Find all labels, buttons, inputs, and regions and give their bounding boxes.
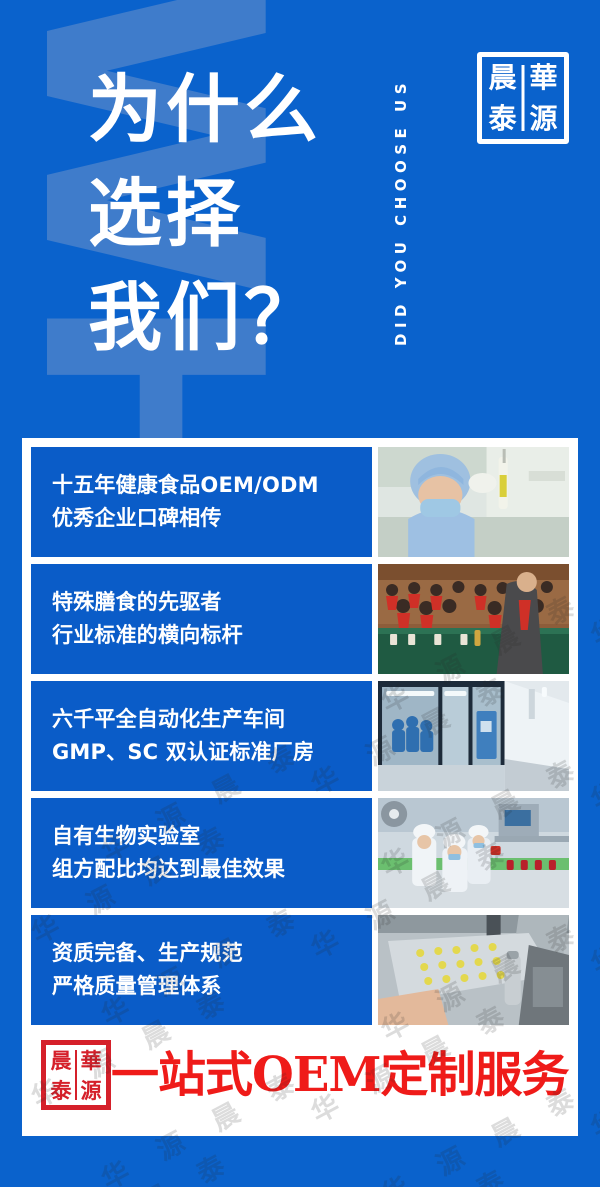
feature-card-text: 特殊膳食的先驱者 行业标准的横向标杆 <box>31 564 372 674</box>
feature-line-2: 组方配比均达到最佳效果 <box>52 853 372 886</box>
photo-art <box>378 798 569 908</box>
photo-art <box>378 681 569 791</box>
feature-photo-cleanroom-corridor <box>378 681 569 791</box>
vertical-tagline: DID YOU CHOOSE US <box>392 22 420 402</box>
feature-photo-conference-audience <box>378 564 569 674</box>
photo-art <box>378 447 569 557</box>
seal-divider <box>522 65 525 131</box>
seal-char-2: 華 <box>76 1045 106 1075</box>
brand-seal-red-icon: 晨 華 泰 源 <box>41 1040 111 1110</box>
features-panel: 十五年健康食品OEM/ODM 优秀企业口碑相传 <box>22 438 578 1136</box>
feature-line-2: 行业标准的横向标杆 <box>52 619 372 652</box>
brand-seal-icon: 晨 華 泰 源 <box>477 52 569 144</box>
feature-photo-filling-line-technicians <box>378 798 569 908</box>
feature-card: 特殊膳食的先驱者 行业标准的横向标杆 <box>31 564 569 674</box>
seal-char-4: 源 <box>76 1075 106 1105</box>
feature-line-2: GMP、SC 双认证标准厂房 <box>52 736 372 769</box>
feature-line-1: 资质完备、生产规范 <box>52 937 372 970</box>
feature-photo-blister-packaging <box>378 915 569 1025</box>
seal-divider <box>75 1050 77 1100</box>
seal-char-3: 泰 <box>46 1075 76 1105</box>
feature-line-1: 十五年健康食品OEM/ODM <box>52 469 372 502</box>
feature-card-text: 自有生物实验室 组方配比均达到最佳效果 <box>31 798 372 908</box>
bottom-banner: 晨 華 泰 源 一站式OEM定制服务 <box>31 1032 569 1118</box>
feature-card: 十五年健康食品OEM/ODM 优秀企业口碑相传 <box>31 447 569 557</box>
seal-char-1: 晨 <box>46 1045 76 1075</box>
feature-card: 资质完备、生产规范 严格质量管理体系 <box>31 915 569 1025</box>
seal-char-1: 晨 <box>482 57 523 98</box>
feature-line-1: 六千平全自动化生产车间 <box>52 703 372 736</box>
feature-line-2: 优秀企业口碑相传 <box>52 502 372 535</box>
poster-root: WHY 为什么 选择 我们？ DID YOU CHOOSE US 晨 華 泰 源… <box>0 0 600 1187</box>
photo-art <box>378 915 569 1025</box>
feature-card: 六千平全自动化生产车间 GMP、SC 双认证标准厂房 <box>31 681 569 791</box>
title-line-3: 我们？ <box>88 266 322 370</box>
feature-photo-lab-technician <box>378 447 569 557</box>
photo-art <box>378 564 569 674</box>
title-line-2: 选择 <box>88 162 322 266</box>
feature-line-1: 特殊膳食的先驱者 <box>52 586 372 619</box>
feature-card: 自有生物实验室 组方配比均达到最佳效果 <box>31 798 569 908</box>
banner-slogan: 一站式OEM定制服务 <box>111 1051 573 1099</box>
feature-card-text: 资质完备、生产规范 严格质量管理体系 <box>31 915 372 1025</box>
feature-card-list: 十五年健康食品OEM/ODM 优秀企业口碑相传 <box>31 447 569 1025</box>
title-line-1: 为什么 <box>88 58 322 162</box>
page-title: 为什么 选择 我们？ <box>88 58 322 370</box>
seal-char-3: 泰 <box>482 98 523 139</box>
feature-card-text: 十五年健康食品OEM/ODM 优秀企业口碑相传 <box>31 447 372 557</box>
feature-line-2: 严格质量管理体系 <box>52 970 372 1003</box>
feature-card-text: 六千平全自动化生产车间 GMP、SC 双认证标准厂房 <box>31 681 372 791</box>
seal-char-4: 源 <box>523 98 564 139</box>
feature-line-1: 自有生物实验室 <box>52 820 372 853</box>
seal-char-2: 華 <box>523 57 564 98</box>
